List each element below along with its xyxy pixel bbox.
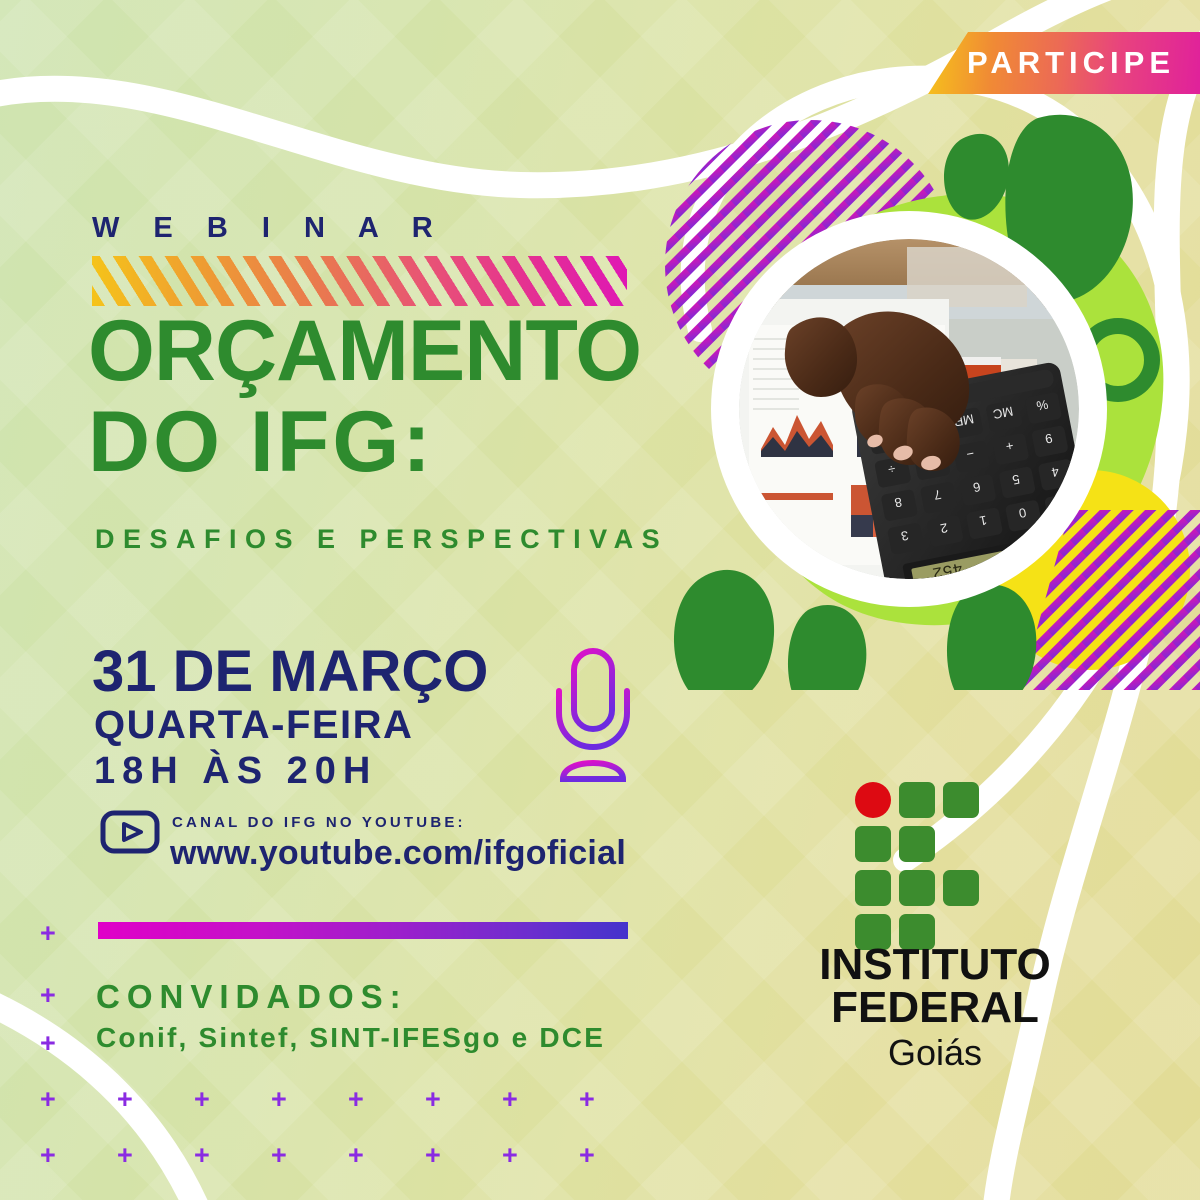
plus-icon: + bbox=[348, 1142, 364, 1169]
plus-icon: + bbox=[579, 1142, 595, 1169]
plus-icon: + bbox=[40, 1030, 56, 1057]
page-title-line-2: DO IFG: bbox=[88, 403, 434, 482]
ifg-state-name: Goiás bbox=[785, 1032, 1085, 1074]
page-title-line-1: ORÇAMENTO bbox=[88, 312, 641, 391]
plus-icon: + bbox=[40, 920, 56, 947]
participe-badge[interactable]: PARTICIPE bbox=[928, 32, 1200, 94]
poster-canvas: .01 23 456 78 9+− ×÷ %MCMR M−M+ 452 bbox=[0, 0, 1200, 1200]
youtube-url[interactable]: www.youtube.com/ifgoficial bbox=[170, 834, 626, 873]
youtube-caption: CANAL DO IFG NO YOUTUBE: bbox=[172, 814, 466, 831]
plus-icon: + bbox=[40, 1142, 56, 1169]
plus-icon: + bbox=[40, 1086, 56, 1113]
plus-icon: + bbox=[502, 1142, 518, 1169]
plus-icon: + bbox=[348, 1086, 364, 1113]
participe-label: PARTICIPE bbox=[953, 45, 1175, 81]
ifg-line-federal: FEDERAL bbox=[785, 986, 1085, 1029]
photo-circle-frame: .01 23 456 78 9+− ×÷ %MCMR M−M+ 452 bbox=[725, 225, 1093, 593]
plus-icon: + bbox=[425, 1142, 441, 1169]
plus-icon: + bbox=[425, 1086, 441, 1113]
svg-text:.: . bbox=[1059, 498, 1065, 513]
event-time: 18H ÀS 20H bbox=[94, 750, 377, 793]
event-weekday: QUARTA-FEIRA bbox=[94, 703, 413, 748]
microphone-icon bbox=[545, 645, 641, 790]
page-subtitle: DESAFIOS E PERSPECTIVAS bbox=[95, 524, 668, 555]
plus-icon: + bbox=[117, 1086, 133, 1113]
plus-icon: + bbox=[40, 982, 56, 1009]
youtube-play-icon[interactable] bbox=[100, 810, 160, 859]
ifg-institute-name: INSTITUTO FEDERAL bbox=[785, 943, 1085, 1029]
guests-label: CONVIDADOS: bbox=[96, 978, 408, 1016]
plus-icon: + bbox=[579, 1086, 595, 1113]
decorative-stripe-bar bbox=[92, 256, 627, 306]
plus-icon: + bbox=[117, 1142, 133, 1169]
plus-icon: + bbox=[502, 1086, 518, 1113]
event-date: 31 DE MARÇO bbox=[92, 638, 488, 705]
plus-icon: + bbox=[271, 1142, 287, 1169]
plus-icon: + bbox=[194, 1086, 210, 1113]
plus-icon: + bbox=[194, 1142, 210, 1169]
plus-icon: + bbox=[271, 1086, 287, 1113]
guests-list: Conif, Sintef, SINT-IFESgo e DCE bbox=[96, 1022, 605, 1054]
gradient-divider bbox=[98, 922, 628, 939]
photo-calculator: .01 23 456 78 9+− ×÷ %MCMR M−M+ 452 bbox=[739, 239, 1079, 579]
webinar-eyebrow: W E B I N A R bbox=[92, 212, 446, 245]
ifg-line-instituto: INSTITUTO bbox=[785, 943, 1085, 986]
